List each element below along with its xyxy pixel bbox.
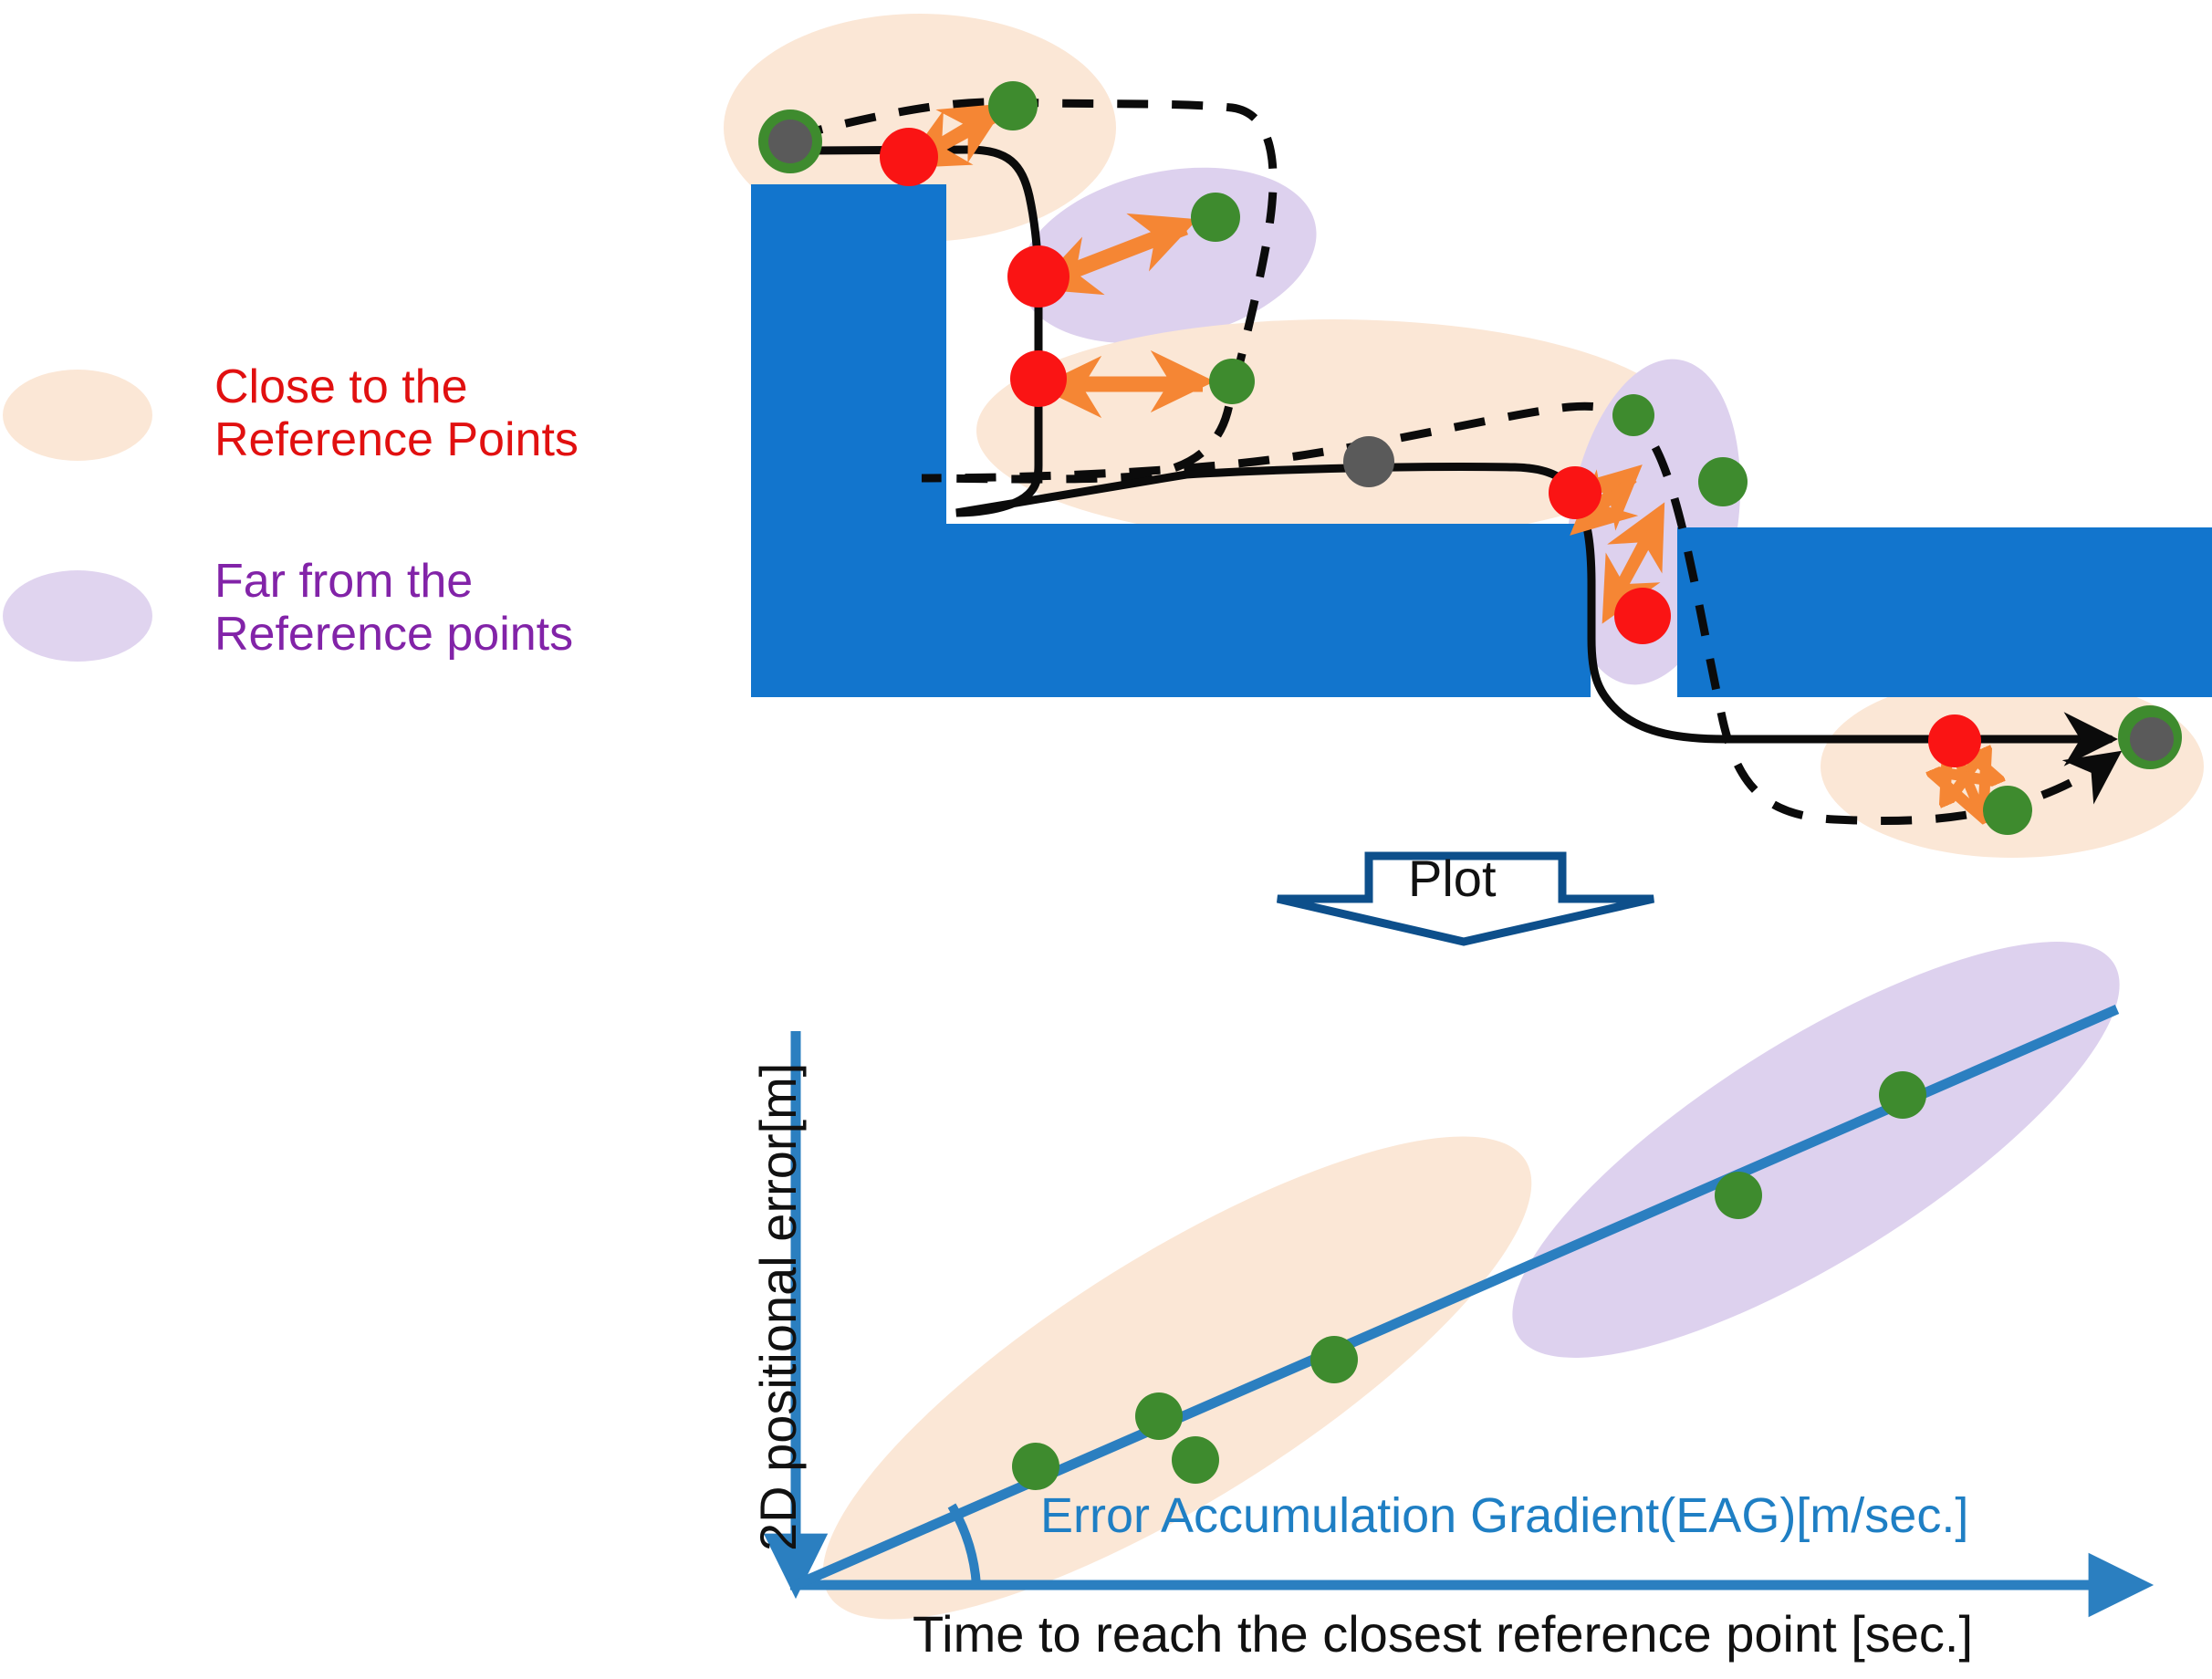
y-axis-label: 2D positional error[m] bbox=[748, 1063, 808, 1551]
data-point bbox=[1310, 1336, 1358, 1383]
figure-root: Close to theReference Points Far from th… bbox=[0, 0, 2212, 1679]
data-point bbox=[1135, 1392, 1183, 1440]
scatter-chart bbox=[0, 0, 2212, 1679]
data-point bbox=[1172, 1436, 1219, 1484]
eag-annotation: Error Accumulation Gradient(EAG)[m/sec.] bbox=[1040, 1487, 1968, 1544]
x-axis-label: Time to reach the closest reference poin… bbox=[913, 1604, 1973, 1663]
data-point bbox=[1879, 1071, 1926, 1119]
chart-far-cluster bbox=[1460, 871, 2172, 1429]
data-point bbox=[1715, 1172, 1762, 1219]
data-point bbox=[1012, 1443, 1059, 1490]
